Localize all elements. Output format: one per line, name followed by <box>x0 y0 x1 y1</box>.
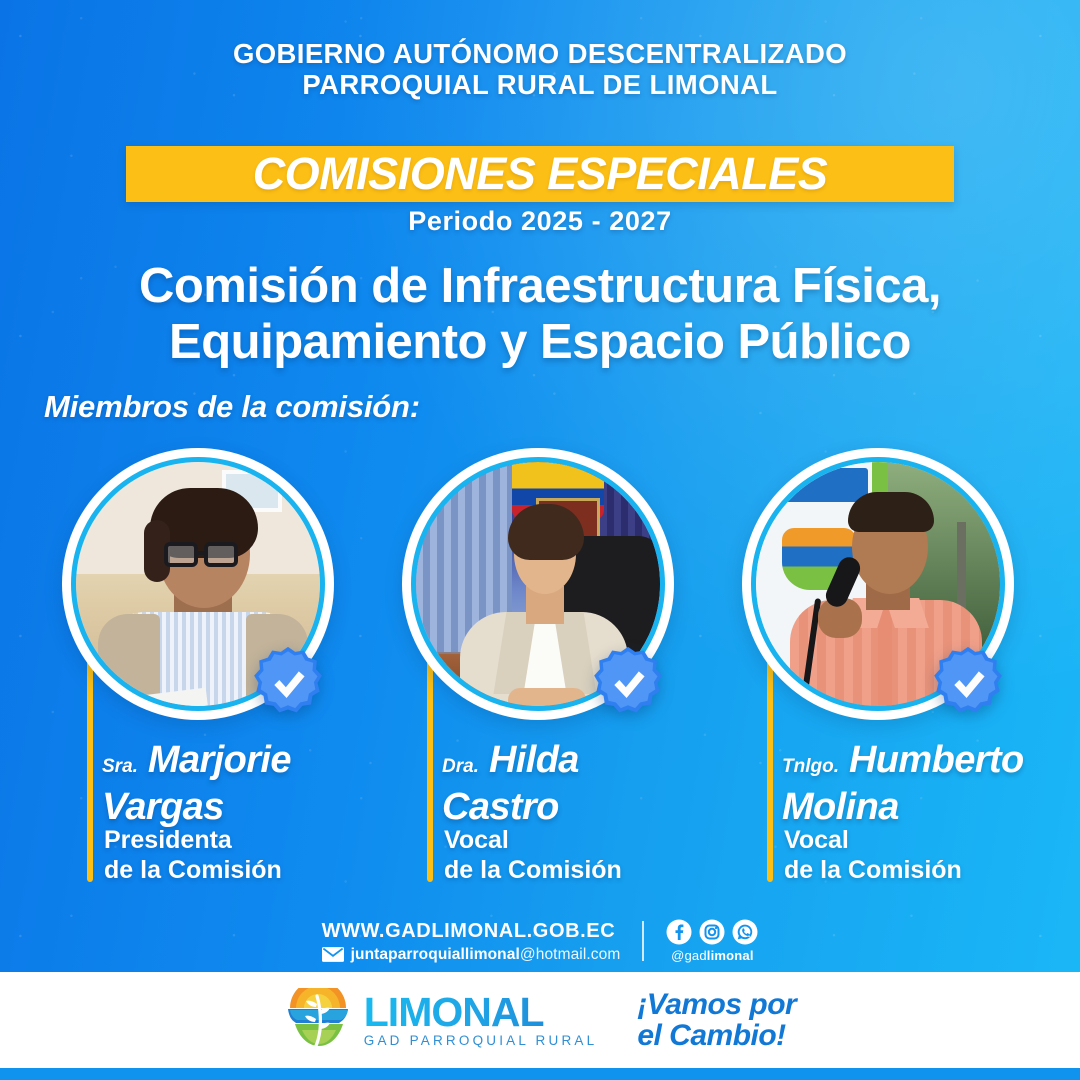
slogan-line-1: ¡Vamos por <box>637 989 796 1020</box>
limonal-wordmark: LIMONAL GAD PARROQUIAL RURAL <box>364 992 598 1048</box>
slogan: ¡Vamos por el Cambio! <box>637 989 796 1051</box>
whatsapp-icon[interactable] <box>732 919 758 945</box>
member-role-line-2: de la Comisión <box>444 855 710 885</box>
members-label: Miembros de la comisión: <box>44 389 420 425</box>
email-row[interactable]: juntaparroquiallimonal@hotmail.com <box>322 946 621 963</box>
member-last-name: Molina <box>782 786 899 828</box>
member-role: Vocal de la Comisión <box>444 825 710 885</box>
commissions-banner: COMISIONES ESPECIALES <box>126 146 954 202</box>
banner-text: COMISIONES ESPECIALES <box>126 146 954 202</box>
banner-word-1: COMISIONES <box>253 148 536 200</box>
footer-bar: LIMONAL GAD PARROQUIAL RURAL ¡Vamos por … <box>0 972 1080 1068</box>
member-first-name: Marjorie <box>148 739 291 781</box>
header-line-2: PARROQUIAL RURAL DE LIMONAL <box>0 69 1080 100</box>
handle-at: @gad <box>671 948 707 963</box>
verified-badge-icon <box>932 644 1004 716</box>
member-name: Dra. Hilda Castro <box>442 740 708 827</box>
social-handle: @gadlimonal <box>671 948 754 963</box>
commission-title-line-1: Comisión de Infraestructura Física, <box>0 258 1080 314</box>
envelope-icon <box>322 947 344 962</box>
contact-right: @gadlimonal <box>666 919 758 963</box>
member-prefix: Dra. <box>442 756 479 777</box>
limonal-logo: LIMONAL GAD PARROQUIAL RURAL <box>284 988 598 1052</box>
verified-badge-icon <box>252 644 324 716</box>
member-last-name: Vargas <box>102 786 224 828</box>
member-name: Sra. Marjorie Vargas <box>102 740 368 827</box>
institution-header: GOBIERNO AUTÓNOMO DESCENTRALIZADO PARROQ… <box>0 38 1080 100</box>
member-first-name: Hilda <box>489 739 579 781</box>
slogan-line-2: el Cambio! <box>637 1020 796 1051</box>
website-link[interactable]: WWW.GADLIMONAL.GOB.EC <box>322 919 621 943</box>
contact-divider <box>642 921 644 961</box>
poster-canvas: GOBIERNO AUTÓNOMO DESCENTRALIZADO PARROQ… <box>0 0 1080 1080</box>
logo-subtitle: GAD PARROQUIAL RURAL <box>364 1033 598 1048</box>
member-role-line-2: de la Comisión <box>104 855 370 885</box>
instagram-icon[interactable] <box>699 919 725 945</box>
commission-title-line-2: Equipamiento y Espacio Público <box>0 314 1080 370</box>
facebook-icon[interactable] <box>666 919 692 945</box>
member-prefix: Tnlgo. <box>782 756 839 777</box>
verified-badge-icon <box>592 644 664 716</box>
member-first-name: Humberto <box>849 739 1024 781</box>
logo-word: LIMONAL <box>364 992 598 1032</box>
member-last-name: Castro <box>442 786 559 828</box>
member-role-line-2: de la Comisión <box>784 855 1050 885</box>
member-role: Presidenta de la Comisión <box>104 825 370 885</box>
member-role-line-1: Vocal <box>784 825 1050 855</box>
member-role-line-1: Vocal <box>444 825 710 855</box>
social-icons <box>666 919 758 945</box>
contact-strip: WWW.GADLIMONAL.GOB.EC juntaparroquiallim… <box>0 912 1080 970</box>
member-prefix: Sra. <box>102 756 138 777</box>
commission-title: Comisión de Infraestructura Física, Equi… <box>0 258 1080 370</box>
bottom-accent-strip <box>0 1068 1080 1080</box>
member-name: Tnlgo. Humberto Molina <box>782 740 1048 827</box>
contact-left: WWW.GADLIMONAL.GOB.EC juntaparroquiallim… <box>322 919 621 963</box>
email-user: juntaparroquiallimonal <box>351 946 520 963</box>
banner-word-2: ESPECIALES <box>547 148 827 200</box>
member-role: Vocal de la Comisión <box>784 825 1050 885</box>
email-text: juntaparroquiallimonal@hotmail.com <box>351 946 621 963</box>
handle-name: limonal <box>707 948 754 963</box>
limonal-emblem-icon <box>284 988 352 1052</box>
header-line-1: GOBIERNO AUTÓNOMO DESCENTRALIZADO <box>0 38 1080 69</box>
member-role-line-1: Presidenta <box>104 825 370 855</box>
email-domain: @hotmail.com <box>520 946 621 963</box>
period-label: Periodo 2025 - 2027 <box>0 206 1080 237</box>
